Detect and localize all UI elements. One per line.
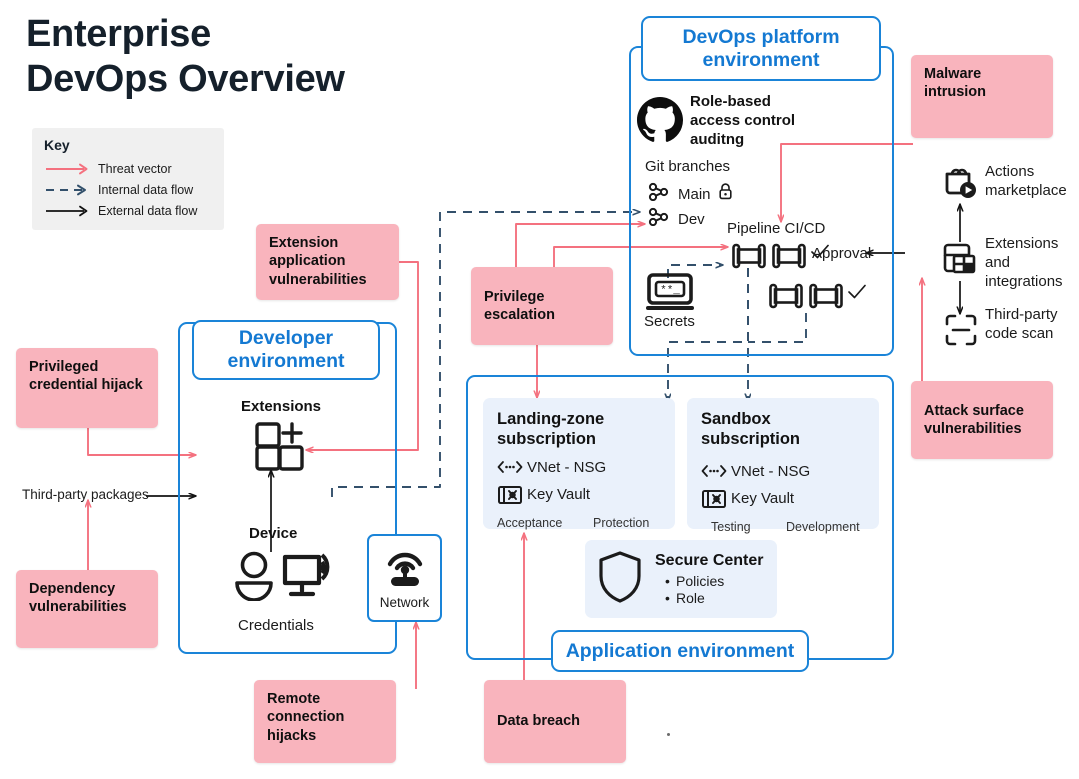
- branch-row-dev: Dev: [648, 207, 705, 231]
- person-icon: [232, 549, 280, 606]
- approval-label: Approval: [812, 245, 871, 262]
- developer-environment-label: Developer environment: [192, 320, 380, 380]
- code-scan-frame-icon: [944, 313, 978, 352]
- diagram-canvas: Enterprise DevOps Overview Key Threat ve…: [0, 0, 1079, 779]
- third-party-code-scan-label: Third-party code scan: [985, 306, 1077, 344]
- legend-item-threat-vector: Threat vector: [44, 158, 212, 179]
- threat-box-extension-application-vulnerabilities: Extension application vulnerabilities: [256, 224, 399, 300]
- subscription-card-landing-zone: Landing-zone subscription VNet - NSG: [483, 398, 675, 529]
- rbac-label: Role-based access control auditng: [690, 92, 805, 150]
- network-node: Network: [367, 534, 442, 622]
- branch-icon: [648, 207, 669, 231]
- subscription-row-vnet: VNet - NSG: [701, 463, 865, 480]
- devops-platform-environment-label: DevOps platform environment: [641, 16, 881, 81]
- threat-box-malware-intrusion: Malware intrusion: [911, 55, 1053, 138]
- threat-line-privilege-escalation-to-dev: [516, 224, 645, 267]
- github-icon: [636, 96, 684, 149]
- secrets-label: Secrets: [644, 313, 695, 330]
- dashed-arrow-right-icon: [44, 183, 92, 197]
- subscription-footer-item: Testing: [711, 520, 786, 534]
- subscription-card-sandbox: Sandbox subscription VNet - NSG: [687, 398, 879, 529]
- application-environment-label: Application environment: [551, 630, 809, 672]
- extensions-and-integrations-label: Extensions and integrations: [985, 235, 1079, 291]
- pipeline-label: Pipeline CI/CD: [727, 220, 825, 237]
- subscription-row-label: VNet - NSG: [527, 459, 606, 476]
- subscription-footer-item: Development: [786, 520, 860, 534]
- subscription-footer: Acceptance Protection: [497, 516, 661, 530]
- pipeline-stage-icon: [808, 283, 846, 314]
- puzzle-plus-icon: [255, 421, 309, 478]
- legend-item-label: External data flow: [98, 204, 197, 218]
- subscription-row-label: Key Vault: [731, 490, 794, 507]
- extensions-grid-icon: [941, 239, 979, 282]
- subscription-row-key-vault: Key Vault: [701, 489, 865, 509]
- pipeline-stage-icon: [768, 283, 806, 314]
- subscription-row-label: Key Vault: [527, 486, 590, 503]
- secure-center-title: Secure Center: [655, 552, 764, 570]
- subscription-row-vnet: VNet - NSG: [497, 459, 661, 476]
- monitor-wireless-icon: [281, 549, 341, 610]
- network-antenna-icon: [382, 547, 428, 594]
- subscription-footer-item: Protection: [593, 516, 649, 530]
- credentials-label: Credentials: [238, 617, 314, 634]
- stray-dot: [667, 733, 670, 736]
- git-branches-label: Git branches: [645, 158, 730, 175]
- legend-title: Key: [44, 137, 212, 153]
- legend-item-internal-data-flow: Internal data flow: [44, 179, 212, 200]
- page-title: Enterprise DevOps Overview: [26, 12, 466, 102]
- subscription-row-key-vault: Key Vault: [497, 485, 661, 505]
- key-vault-icon: [701, 489, 731, 509]
- arrow-right-icon: [44, 162, 92, 176]
- marketplace-bag-play-icon: [941, 163, 979, 206]
- threat-box-privilege-escalation: Privilege escalation: [471, 267, 613, 345]
- secure-center-bullet: •Policies: [665, 573, 764, 589]
- subscription-footer: Testing Development: [701, 520, 865, 534]
- branch-label: Main: [678, 186, 711, 203]
- check-icon: [847, 283, 867, 306]
- pipeline-row-2: [768, 283, 867, 314]
- threat-box-attack-surface-vulnerabilities: Attack surface vulnerabilities: [911, 381, 1053, 459]
- legend-item-label: Internal data flow: [98, 183, 193, 197]
- legend-item-external-data-flow: External data flow: [44, 200, 212, 221]
- device-label: Device: [249, 525, 297, 542]
- pipeline-stage-icon: [771, 243, 809, 274]
- threat-box-remote-connection-hijacks: Remote connection hijacks: [254, 680, 396, 763]
- branch-icon: [648, 182, 669, 206]
- lock-icon: [718, 183, 733, 205]
- secure-center-card: Secure Center •Policies •Role: [585, 540, 777, 618]
- branch-label: Dev: [678, 211, 705, 228]
- svg-text:**_: **_: [660, 285, 680, 297]
- vnet-icon: [701, 464, 731, 478]
- page-title-line1: Enterprise: [26, 12, 466, 57]
- threat-box-dependency-vulnerabilities: Dependency vulnerabilities: [16, 570, 158, 648]
- secure-center-bullet: •Role: [665, 590, 764, 606]
- arrow-right-icon: [44, 204, 92, 218]
- shield-icon: [597, 550, 643, 609]
- vnet-icon: [497, 460, 527, 474]
- pipeline-stage-icon: [731, 243, 769, 274]
- page-title-line2: DevOps Overview: [26, 57, 466, 102]
- subscription-footer-item: Acceptance: [497, 516, 593, 530]
- subscription-title: Landing-zone subscription: [497, 410, 661, 450]
- extensions-label: Extensions: [241, 398, 321, 415]
- legend: Key Threat vector Internal data flow: [32, 128, 224, 230]
- key-vault-icon: [497, 485, 527, 505]
- branch-row-main: Main: [648, 182, 733, 206]
- subscription-title: Sandbox subscription: [701, 410, 865, 450]
- third-party-packages-label: Third-party packages: [22, 487, 149, 502]
- threat-box-privileged-credential-hijack: Privileged credential hijack: [16, 348, 158, 428]
- threat-box-data-breach: Data breach: [484, 680, 626, 763]
- subscription-row-label: VNet - NSG: [731, 463, 810, 480]
- network-label: Network: [380, 595, 430, 610]
- legend-item-label: Threat vector: [98, 162, 172, 176]
- actions-marketplace-label: Actions marketplace: [985, 163, 1077, 201]
